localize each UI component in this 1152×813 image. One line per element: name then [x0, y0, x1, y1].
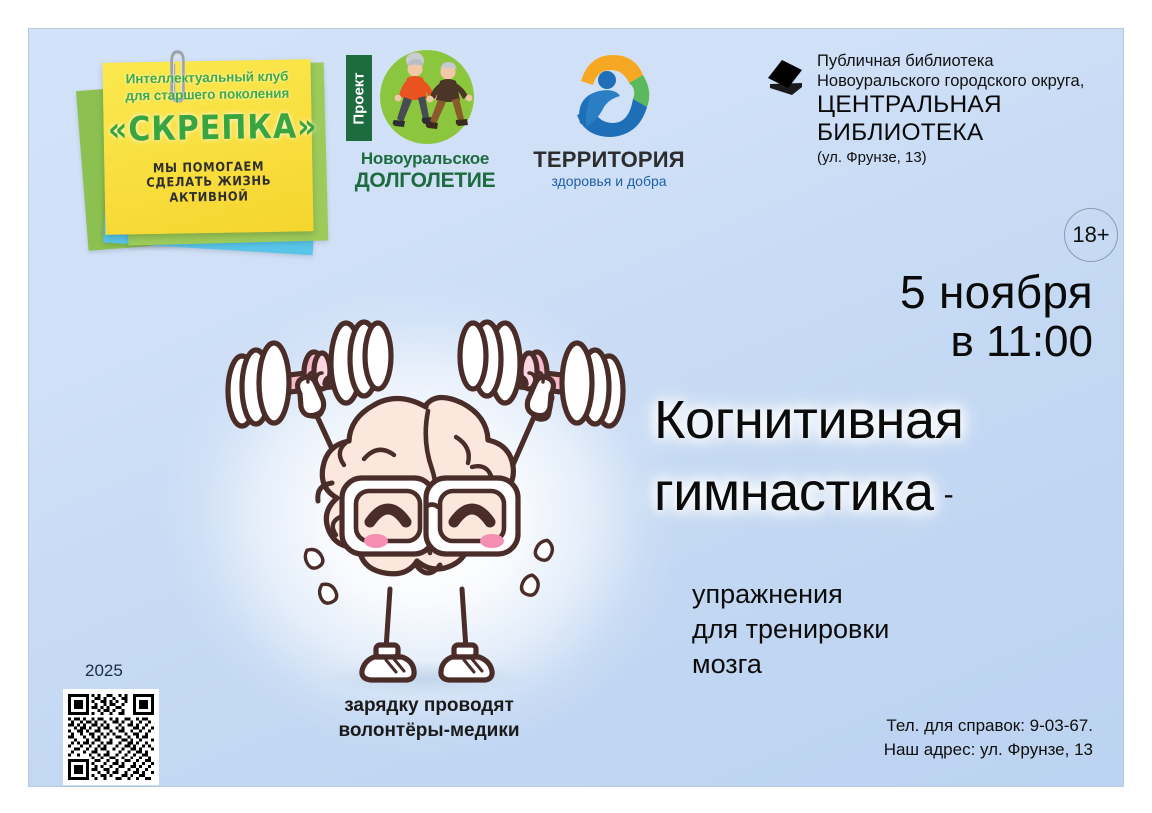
event-title-dash: - [944, 459, 954, 531]
event-subtitle-line1: упражнения [692, 577, 1122, 612]
library-big-line1: ЦЕНТРАЛЬНАЯ [817, 91, 1107, 119]
territoriya-mark-icon [563, 47, 657, 145]
library-line2: Новоуральского городского округа, [817, 71, 1107, 91]
skrepka-text-group: Интеллектуальный клуб для старшего покол… [107, 67, 309, 204]
event-subtitle-block: упражнения для тренировки мозга [692, 577, 1122, 682]
contact-block: Тел. для справок: 9-03-67. Наш адрес: ул… [884, 714, 1093, 762]
book-icon [764, 57, 806, 99]
logo-territoriya: ТЕРРИТОРИЯ здоровья и добра [519, 47, 699, 202]
caption-line2: волонтёры-медики [284, 718, 574, 743]
event-time: в 11:00 [900, 317, 1093, 367]
event-title-line2-wrap: гимнастика- [654, 456, 1124, 531]
qr-code-image [68, 694, 154, 780]
walking-seniors-icon [374, 47, 486, 151]
poster-canvas: Интеллектуальный клуб для старшего покол… [28, 28, 1124, 787]
event-datetime-block: 5 ноября в 11:00 [900, 267, 1093, 367]
year-label: 2025 [85, 661, 123, 681]
event-subtitle-line3: мозга [692, 647, 1122, 682]
skrepka-slogan-line2: СДЕЛАТЬ ЖИЗНЬ АКТИВНОЙ [109, 172, 310, 206]
library-text-group: Публичная библиотека Новоуральского горо… [817, 51, 1107, 168]
skrepka-club-name: «СКРЕПКА» [108, 107, 309, 150]
contact-address: Наш адрес: ул. Фрунзе, 13 [884, 738, 1093, 762]
event-title-line2: гимнастика [654, 462, 934, 522]
dolgoletie-line2: ДОЛГОЛЕТИЕ [346, 169, 504, 193]
skrepka-line2: для старшего поколения [107, 84, 307, 104]
event-title-block: Когнитивная гимнастика- [654, 384, 1124, 531]
territoriya-line2: здоровья и добра [519, 173, 699, 189]
proekt-badge: Проект [346, 55, 372, 141]
mascot-caption: зарядку проводят волонтёры-медики [284, 693, 574, 743]
library-big-line2: БИБЛИОТЕКА [817, 119, 1107, 147]
event-date: 5 ноября [900, 267, 1093, 317]
logo-dolgoletie: Проект [344, 47, 504, 197]
brain-mascot-illustration [204, 319, 644, 719]
library-line1: Публичная библиотека [817, 51, 1107, 71]
logo-skrepka: Интеллектуальный клуб для старшего покол… [74, 47, 324, 257]
territoriya-line1: ТЕРРИТОРИЯ [519, 147, 699, 173]
qr-code[interactable] [63, 689, 159, 785]
contact-phone: Тел. для справок: 9-03-67. [884, 714, 1093, 738]
proekt-label: Проект [351, 72, 368, 124]
dolgoletie-line1: Новоуральское [346, 149, 504, 169]
library-address: (ул. Фрунзе, 13) [817, 148, 1107, 168]
event-title-line1: Когнитивная [654, 384, 1124, 456]
age-rating-badge: 18+ [1064, 208, 1118, 262]
event-subtitle-line2: для тренировки [692, 612, 1122, 647]
caption-line1: зарядку проводят [284, 693, 574, 718]
